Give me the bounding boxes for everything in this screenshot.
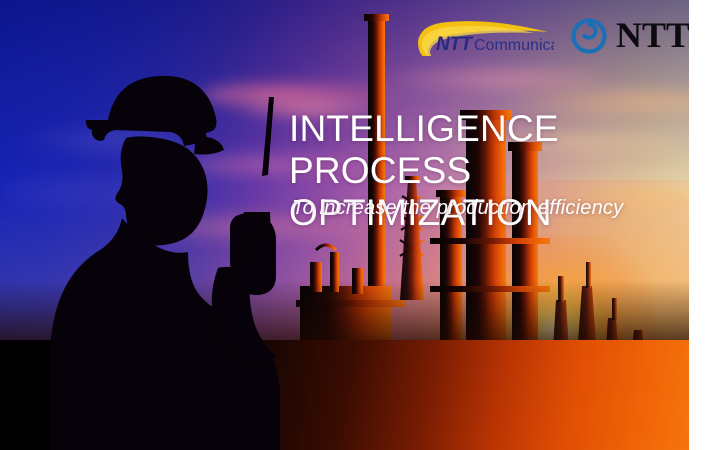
title-line-1: INTELLIGENCE PROCESS: [289, 108, 559, 191]
ntt-wordmark: NTT: [616, 17, 690, 53]
ntt-com-brand-text: NTT: [436, 34, 473, 55]
ntt-com-suffix-text: Communications: [474, 37, 554, 54]
ntt-circle-mark-icon: [570, 16, 608, 54]
slide-canvas: INTELLIGENCE PROCESS OPTIMIZATION To inc…: [0, 0, 706, 450]
right-white-margin: [689, 0, 706, 450]
ntt-communications-logo-svg: NTT Communications: [414, 18, 554, 56]
ntt-logo: NTT: [570, 13, 680, 57]
ntt-communications-logo: NTT Communications: [414, 18, 554, 56]
page-subtitle: To increase the production efficiency: [292, 197, 692, 220]
